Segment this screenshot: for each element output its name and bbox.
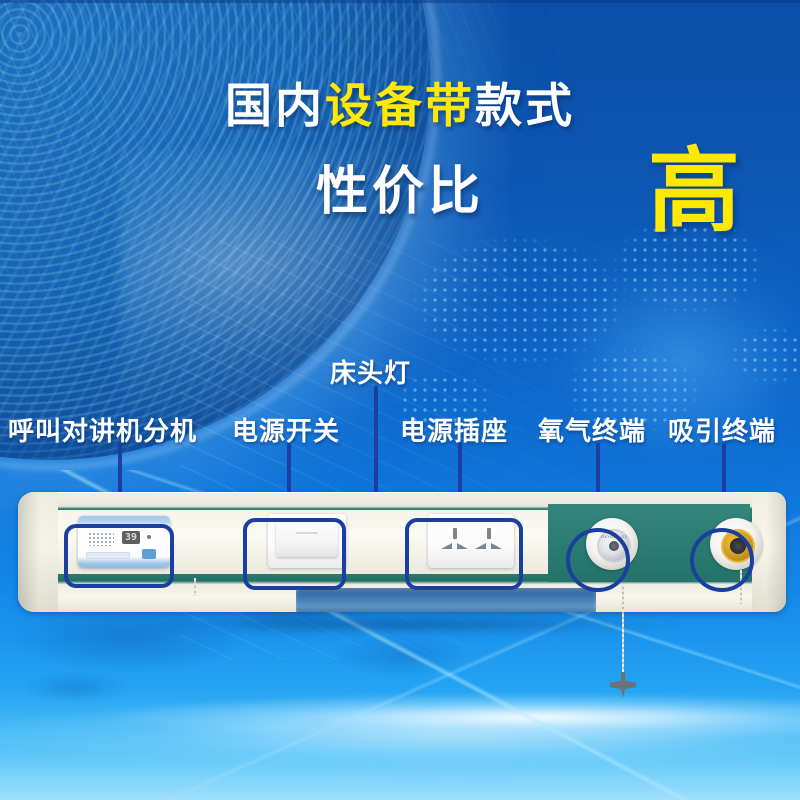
bed-lamp-diffuser [296,588,596,612]
panel-left-end-cap [18,492,58,612]
highlight-circle-suction [690,528,754,592]
highlight-box-power-switch [243,518,346,590]
highlight-box-intercom [64,524,174,588]
headline-part-3: 款式 [475,79,575,132]
headline-part-2-highlight: 设备带 [325,79,475,132]
highlight-box-power-socket [405,518,523,590]
callout-label-suction-terminal: 吸引终端 [668,418,776,444]
pull-cord-line[interactable] [622,584,624,676]
callout-label-oxygen-terminal: 氧气终端 [538,418,646,444]
banner-canvas: 国内设备带款式 性价比 高 呼叫对讲机分机 电源开关 床头灯 电源插座 氧气终端… [0,0,800,800]
callout-label-power-switch: 电源开关 [232,418,340,444]
panel-drop-shadow [24,614,786,640]
headline-line1: 国内设备带款式 [0,82,800,129]
headline-big-char: 高 [648,146,740,238]
highlight-circle-oxygen [566,528,630,592]
callout-label-bed-lamp: 床头灯 [330,360,411,386]
top-edge-band [0,0,800,3]
callout-label-power-socket: 电源插座 [400,418,508,444]
panel-cord-short-left [194,578,196,596]
callout-label-intercom: 呼叫对讲机分机 [8,418,197,444]
headline-part-1: 国内 [225,79,325,132]
